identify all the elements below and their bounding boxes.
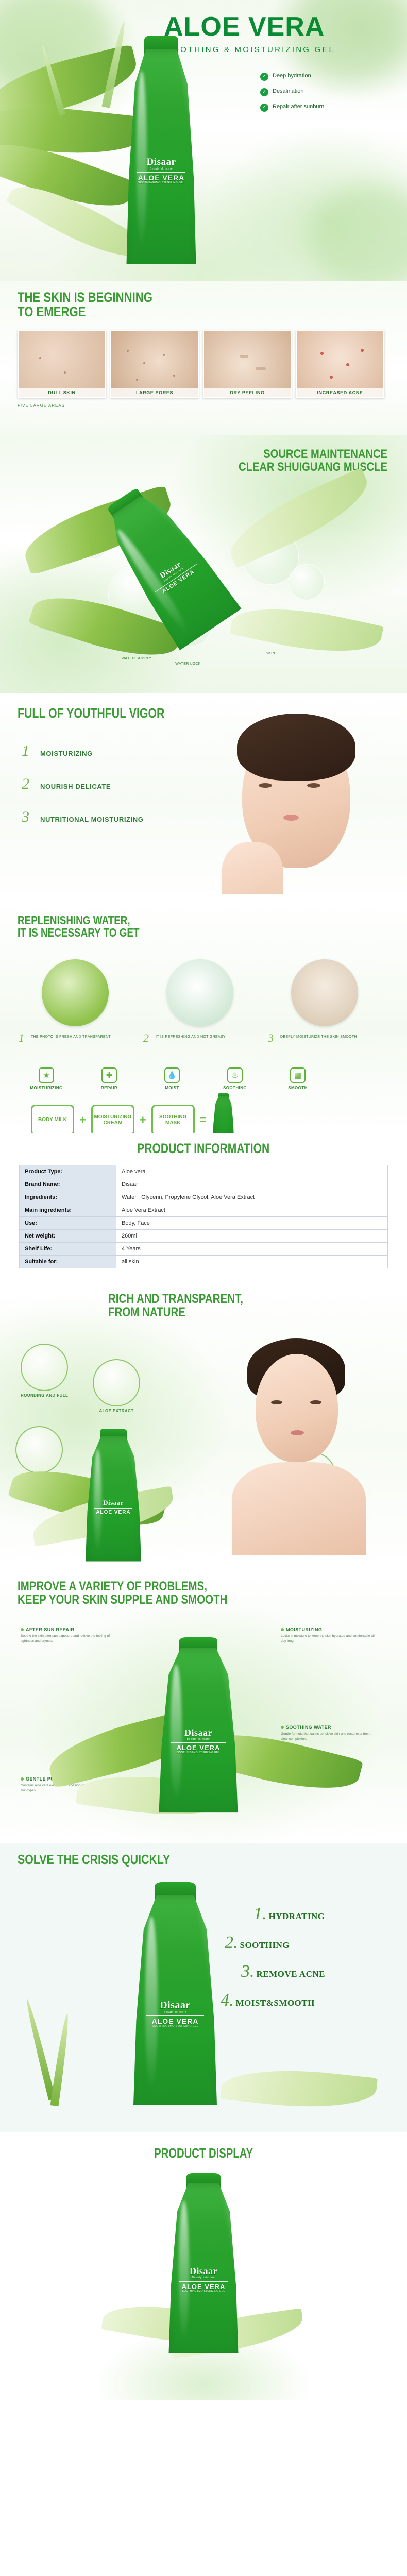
bottle-label: Disaar ALOE VERA (88, 1480, 139, 1534)
bottle-cap (107, 487, 146, 522)
crisis-list-item: 4. MOIST&SMOOTH (221, 1992, 325, 2009)
drop-icon: 💧 (164, 1067, 180, 1083)
benefit-label: MOISTURIZING (15, 1086, 77, 1090)
list-label: MOIST&SMOOTH (236, 1998, 315, 2008)
bottle-brand: Disaar (103, 1499, 124, 1506)
bottle-cap (218, 1093, 228, 1098)
aloe-leaf (168, 2308, 306, 2359)
bottle-cap (100, 1429, 127, 1443)
section-heading: SOURCE MAINTENANCE CLEAR SHUIGUANG MUSCL… (239, 448, 387, 473)
water-columns: 1 THE PHOTO IS FRESH AND TRANSPARENT 2 I… (19, 959, 381, 1026)
feature-description: Locks in moisture to keep the skin hydra… (281, 1634, 379, 1644)
model-photo (216, 1323, 386, 1555)
table-cell-value: Body, Face (116, 1217, 388, 1230)
table-row: Shelf Life: 4 Years (20, 1243, 388, 1256)
hero-bullet-item: ✓ Desalination (260, 88, 389, 96)
aloe-leaf (24, 1998, 56, 2100)
section-heading: RICH AND TRANSPARENT, FROM NATURE (108, 1292, 243, 1319)
table-cell-key: Net weight: (20, 1230, 116, 1243)
list-number: 3. (241, 1963, 255, 1980)
hero-bullet-list: ✓ Deep hydration ✓ Desalination ✓ Repair… (260, 72, 389, 118)
bottle-body (165, 2183, 242, 2359)
benefit-item: ▦ SMOOTH (267, 1067, 329, 1090)
divider (94, 1508, 133, 1509)
bottle-product-name: ALOE VERA (96, 1510, 130, 1516)
water-photo (291, 959, 358, 1026)
bottle-brand: Disaar (190, 2266, 217, 2276)
combo-box: SOOTHING MASK (151, 1105, 195, 1136)
bottle-label: Disaar Beauty skincare ALOE VERA SOOTHIN… (130, 124, 193, 217)
model-hand (222, 842, 283, 894)
crisis-list-item: 2. SOOTHING (225, 1934, 325, 1952)
vigor-list-item: 2 NOURISH DELICATE (22, 775, 143, 793)
bullet-dot-icon (21, 1628, 24, 1631)
section-heading: THE SKIN IS BEGINNING TO EMERGE (18, 290, 152, 319)
product-bottle: Disaar Beauty skincare ALOE VERA SOOTHIN… (165, 2183, 242, 2359)
aloe-leaf (220, 2062, 378, 2115)
table-cell-value: Aloe Vera Extract (116, 1204, 388, 1217)
model-eye (307, 783, 320, 788)
product-information-section: PRODUCT INFORMATION Product Type: Aloe v… (0, 1133, 407, 1282)
benefit-row: ★ MOISTURIZING ✚ REPAIR 💧 MOIST ♨ SOOTHI… (15, 1067, 329, 1090)
table-cell-key: Ingredients: (20, 1191, 116, 1204)
table-row: Suitable for: all skin (20, 1256, 388, 1268)
list-number: 2. (225, 1934, 238, 1952)
section-heading: FULL OF YOUTHFUL VIGOR (18, 706, 164, 720)
callout: ALOE EXTRACT (93, 1359, 140, 1414)
skin-problem-tile: LARGE PORES (110, 330, 199, 398)
table-row: Net weight: 260ml (20, 1230, 388, 1243)
table-row: Main ingredients: Aloe Vera Extract (20, 1204, 388, 1217)
table-cell-value: Water , Glycerin, Propylene Glycol, Aloe… (116, 1191, 388, 1204)
list-number: 1. (253, 1905, 267, 1923)
callout: ROUNDING AND FULL (21, 1344, 68, 1398)
crisis-list: 1. HYDRATING 2. SOOTHING 3. REMOVE ACNE … (227, 1905, 325, 2021)
aloe-leaf (75, 1766, 233, 1825)
bottle-cap (179, 1637, 218, 1656)
bottle-highlight (179, 2201, 189, 2341)
benefit-label: SOOTHING (204, 1086, 266, 1090)
section-heading: SOLVE THE CRISIS QUICKLY (18, 1853, 170, 1867)
water-photo (42, 959, 109, 1026)
feature-title: GENTLE PURE (21, 1776, 118, 1782)
equals-icon: = (200, 1113, 207, 1127)
diagram-tag: SKIN (255, 652, 286, 655)
combo-box: MOISTURIZING CREAM (91, 1105, 134, 1136)
list-label: NOURISH DELICATE (40, 783, 111, 791)
column-number: 3 (268, 1031, 274, 1045)
bottle-brand: Disaar (160, 2000, 191, 2011)
product-display-section: PRODUCT DISPLAY Disaar Beauty skincare A… (0, 2132, 407, 2420)
feature-block: GENTLE PURE Contains aloe vera extract, … (21, 1776, 118, 1793)
table-cell-key: Product Type: (20, 1165, 116, 1178)
model-hair (237, 714, 355, 781)
table-row: Product Type: Aloe vera (20, 1165, 388, 1178)
water-column: 1 THE PHOTO IS FRESH AND TRANSPARENT (19, 959, 132, 1026)
diagram-tag: WATER LOCK (170, 662, 206, 666)
column-number: 1 (19, 1031, 24, 1045)
model-eye (310, 1400, 321, 1404)
bottle-product-name: ALOE VERA (182, 2283, 226, 2291)
section-heading: PRODUCT INFORMATION (0, 1133, 407, 1165)
section-heading: REPLENISHING WATER, IT IS NECESSARY TO G… (18, 914, 140, 939)
bottle-label: Disaar Beauty skincare ALOE VERA SOOTHIN… (162, 1705, 234, 1777)
table-cell-value: Aloe vera (116, 1165, 388, 1178)
column-number: 2 (143, 1031, 149, 1045)
list-label: SOOTHING (240, 1940, 290, 1951)
bottle-product-name: ALOE VERA (152, 2018, 199, 2025)
bottle-product-name: ALOE VERA (138, 174, 185, 182)
bottle-cap (155, 1882, 195, 1906)
section-heading-text: PRODUCT INFORMATION (137, 1141, 269, 1157)
callout: BRIDGE PORES (15, 1426, 63, 1481)
hero-bullet-label: Repair after sunburn (273, 103, 324, 111)
hydration-icon: ★ (39, 1067, 54, 1083)
table-row: Use: Body, Face (20, 1217, 388, 1230)
aloe-leaf (0, 129, 137, 221)
bullet-dot-icon (21, 1777, 24, 1781)
vigor-list-item: 3 NUTRITIONAL MOISTURIZING (22, 808, 143, 826)
bottle-icon: ▦ (290, 1067, 306, 1083)
hero-banner: ALOE VERA SOOTHING & MOISTURIZING GEL ✓ … (0, 0, 407, 281)
water-column: 3 DEEPLY MOISTURIZE THE SKIN SMOOTH (268, 959, 381, 1026)
table-cell-key: Suitable for: (20, 1256, 116, 1268)
benefit-item: ★ MOISTURIZING (15, 1067, 77, 1090)
bottle-tagline: Beauty skincare (164, 2011, 187, 2014)
replenishing-water-section: REPLENISHING WATER, IT IS NECESSARY TO G… (0, 902, 407, 1133)
bullet-dot-icon (281, 1726, 284, 1729)
bottle-highlight (171, 1665, 182, 1801)
hero-bullet-item: ✓ Repair after sunburn (260, 103, 389, 112)
callout-ring (21, 1344, 68, 1391)
bottle-label: Disaar Beauty skincare ALOE VERA SOOTHIN… (137, 1969, 213, 2059)
product-bottle: Disaar Beauty skincare ALOE VERA SOOTHIN… (129, 1895, 222, 2111)
feature-block: AFTER-SUN REPAIR Soothe the skin after s… (21, 1627, 118, 1644)
benefit-label: REPAIR (78, 1086, 140, 1090)
hero-bullet-item: ✓ Deep hydration (260, 72, 389, 81)
bottle-highlight (145, 1917, 157, 2090)
model-shoulders (232, 1462, 366, 1555)
table-cell-value: Disaar (116, 1178, 388, 1191)
divider (171, 1742, 226, 1743)
model-photo (211, 714, 392, 894)
callout-label: ROUNDING AND FULL (21, 1393, 68, 1398)
bottle-highlight (94, 1449, 102, 1552)
skin-problems-section: THE SKIN IS BEGINNING TO EMERGE DULL SKI… (0, 281, 407, 435)
benefit-label: SMOOTH (267, 1086, 329, 1090)
plus-icon: + (140, 1113, 146, 1127)
skin-problem-tiles: DULL SKIN LARGE PORES DRY PEELING INCREA… (18, 330, 384, 398)
rich-transparent-section: RICH AND TRANSPARENT, FROM NATURE ROUNDI… (0, 1282, 407, 1570)
bottle-product-subtitle: SOOTHING&MOISTURIZING GEL (152, 2025, 199, 2028)
divider (137, 172, 185, 173)
section-heading: IMPROVE A VARIETY OF PROBLEMS, KEEP YOUR… (18, 1580, 227, 1607)
check-circle-icon: ✓ (260, 88, 268, 96)
improve-problems-section: IMPROVE A VARIETY OF PROBLEMS, KEEP YOUR… (0, 1570, 407, 1843)
product-detail-page: ALOE VERA SOOTHING & MOISTURIZING GEL ✓ … (0, 0, 407, 2420)
crisis-list-item: 3. REMOVE ACNE (241, 1963, 325, 1980)
bottle-body (82, 1436, 144, 1565)
model-lips (291, 1430, 304, 1435)
list-number: 4. (221, 1992, 234, 2009)
bottle-label: Disaar Beauty skincare ALOE VERA SOOTHIN… (172, 2243, 235, 2317)
callout-ring (15, 1426, 63, 1473)
tile-caption: DRY PEELING (204, 388, 291, 397)
callout-label: ALOE EXTRACT (93, 1409, 140, 1414)
skin-problem-tile: INCREASED ACNE (296, 330, 384, 398)
callout-ring (93, 1359, 140, 1406)
benefit-item: 💧 MOIST (141, 1067, 203, 1090)
bottle-tagline: Beauty skincare (187, 1738, 210, 1741)
vigor-list-item: 1 MOISTURIZING (22, 742, 143, 760)
table-cell-key: Shelf Life: (20, 1243, 116, 1256)
list-number: 3 (22, 808, 35, 826)
bottle-product-subtitle: SOOTHING&MOISTURIZING GEL (182, 2290, 225, 2293)
tile-caption: DULL SKIN (19, 388, 105, 397)
product-bottle: Disaar Beauty skincare ALOE VERA SOOTHIN… (155, 1648, 242, 1818)
diagram-tag: WATER SUPPLY (118, 657, 155, 660)
hero-bullet-label: Desalination (273, 88, 304, 95)
bottle-tagline: Beauty skincare (192, 2277, 215, 2279)
water-bubble (170, 605, 211, 647)
table-cell-value: 260ml (116, 1230, 388, 1243)
model-face (256, 1354, 338, 1462)
callout-label: BRIDGE PORES (15, 1476, 63, 1481)
product-bottle: Disaar Beauty skincare ALOE VERA SOOTHIN… (123, 49, 200, 270)
list-number: 1 (22, 742, 35, 760)
water-photo (166, 959, 233, 1026)
list-label: MOISTURIZING (40, 750, 93, 758)
aloe-leaf (0, 99, 146, 161)
divider (179, 2281, 227, 2282)
bottle-tagline: Beauty skincare (150, 168, 173, 171)
hero-bullet-label: Deep hydration (273, 72, 311, 80)
check-circle-icon: ✓ (260, 73, 268, 81)
skin-problem-tile: DRY PEELING (203, 330, 292, 398)
feature-block: MOISTURIZING Locks in moisture to keep t… (281, 1627, 379, 1644)
table-cell-value: 4 Years (116, 1243, 388, 1256)
crisis-list-item: 1. HYDRATING (253, 1905, 325, 1923)
list-label: NUTRITIONAL MOISTURIZING (40, 816, 143, 824)
benefit-item: ✚ REPAIR (78, 1067, 140, 1090)
grass-blade (40, 45, 65, 116)
feature-description: Contains aloe vera extract, mild and non… (21, 1783, 118, 1793)
tile-caption: LARGE PORES (111, 388, 198, 397)
plus-icon: + (79, 1113, 86, 1127)
repair-icon: ✚ (101, 1067, 117, 1083)
skin-problem-tile: DULL SKIN (18, 330, 106, 398)
display-stage: Disaar Beauty skincare ALOE VERA SOOTHIN… (0, 2178, 407, 2400)
bottle-product-subtitle: SOOTHING&MOISTURIZING GEL (138, 182, 185, 185)
bottle-brand: Disaar (147, 157, 176, 167)
check-circle-icon: ✓ (260, 104, 268, 112)
table-row: Brand Name: Disaar (20, 1178, 388, 1191)
grass-blade (102, 21, 128, 108)
aloe-leaf (229, 596, 383, 665)
bottle-cap (186, 2173, 221, 2192)
bottle-tagline: Beauty skincare (164, 568, 184, 583)
water-bubble (289, 564, 325, 600)
water-bubble (108, 564, 170, 626)
aloe-leaf (50, 2013, 72, 2106)
table-cell-key: Main ingredients: (20, 1204, 116, 1217)
list-label: REMOVE ACNE (257, 1969, 325, 1979)
benefit-label: MOIST (141, 1086, 203, 1090)
model-lips (283, 815, 299, 821)
vigor-list: 1 MOISTURIZING 2 NOURISH DELICATE 3 NUTR… (22, 742, 143, 841)
bottle-body (123, 49, 200, 270)
product-information-table: Product Type: Aloe vera Brand Name: Disa… (19, 1165, 388, 1268)
bottle-highlight (137, 71, 147, 248)
bottle-product-subtitle: SOOTHING&MOISTURIZING GEL (177, 1752, 220, 1754)
model-eye (271, 1400, 282, 1404)
youthful-vigor-section: FULL OF YOUTHFUL VIGOR 1 MOISTURIZING 2 … (0, 693, 407, 902)
tiles-footer-note: FIVE LARGE AREAS (18, 403, 65, 408)
source-maintenance-section: SOURCE MAINTENANCE CLEAR SHUIGUANG MUSCL… (0, 435, 407, 693)
table-row: Ingredients: Water , Glycerin, Propylene… (20, 1191, 388, 1204)
feature-title: MOISTURIZING (281, 1627, 379, 1632)
table-cell-key: Use: (20, 1217, 116, 1230)
divider (146, 2015, 204, 2016)
feature-block: SOOTHING WATER Gentle formula that calms… (281, 1725, 379, 1742)
leaf-icon: ♨ (227, 1067, 243, 1083)
column-caption: THE PHOTO IS FRESH AND TRANSPARENT (31, 1035, 124, 1040)
bottle-brand: Disaar (184, 1728, 212, 1738)
water-bubble (77, 528, 108, 559)
solve-crisis-section: SOLVE THE CRISIS QUICKLY 1. HYDRATING 2.… (0, 1843, 407, 2132)
section-heading: PRODUCT DISPLAY (0, 2132, 407, 2161)
section-heading-text: PRODUCT DISPLAY (154, 2145, 253, 2161)
water-column: 2 IT IS REFRESHING AND NOT GREASY (143, 959, 257, 1026)
table-cell-key: Brand Name: (20, 1178, 116, 1191)
product-bottle: Disaar ALOE VERA (82, 1436, 144, 1565)
bottle-product-name: ALOE VERA (177, 1744, 221, 1752)
table-cell-value: all skin (116, 1256, 388, 1268)
column-caption: DEEPLY MOISTURIZE THE SKIN SMOOTH (280, 1035, 373, 1040)
bullet-dot-icon (281, 1628, 284, 1631)
aloe-leaf (6, 170, 148, 274)
list-label: HYDRATING (269, 1911, 325, 1922)
aloe-leaf (101, 2296, 239, 2352)
hero-subtitle: SOOTHING & MOISTURIZING GEL (166, 45, 335, 54)
list-number: 2 (22, 775, 35, 793)
decor-blob (309, 185, 407, 289)
combo-box: BODY MILK (31, 1105, 74, 1136)
feature-description: Gentle formula that calms sensitive skin… (281, 1732, 379, 1742)
feature-description: Soothe the skin after sun exposure and r… (21, 1634, 118, 1644)
page-title: ALOE VERA (164, 13, 325, 40)
feature-title: AFTER-SUN REPAIR (21, 1627, 118, 1632)
decor-blob (0, 0, 113, 98)
column-caption: IT IS REFRESHING AND NOT GREASY (156, 1035, 248, 1040)
aloe-leaf (0, 44, 142, 126)
aloe-leaf (29, 1486, 177, 1547)
bottle-body (155, 1648, 242, 1818)
feature-title: SOOTHING WATER (281, 1725, 379, 1730)
bottle-body (129, 1895, 222, 2111)
model-eye (259, 783, 272, 788)
tile-caption: INCREASED ACNE (297, 388, 383, 397)
benefit-item: ♨ SOOTHING (204, 1067, 266, 1090)
